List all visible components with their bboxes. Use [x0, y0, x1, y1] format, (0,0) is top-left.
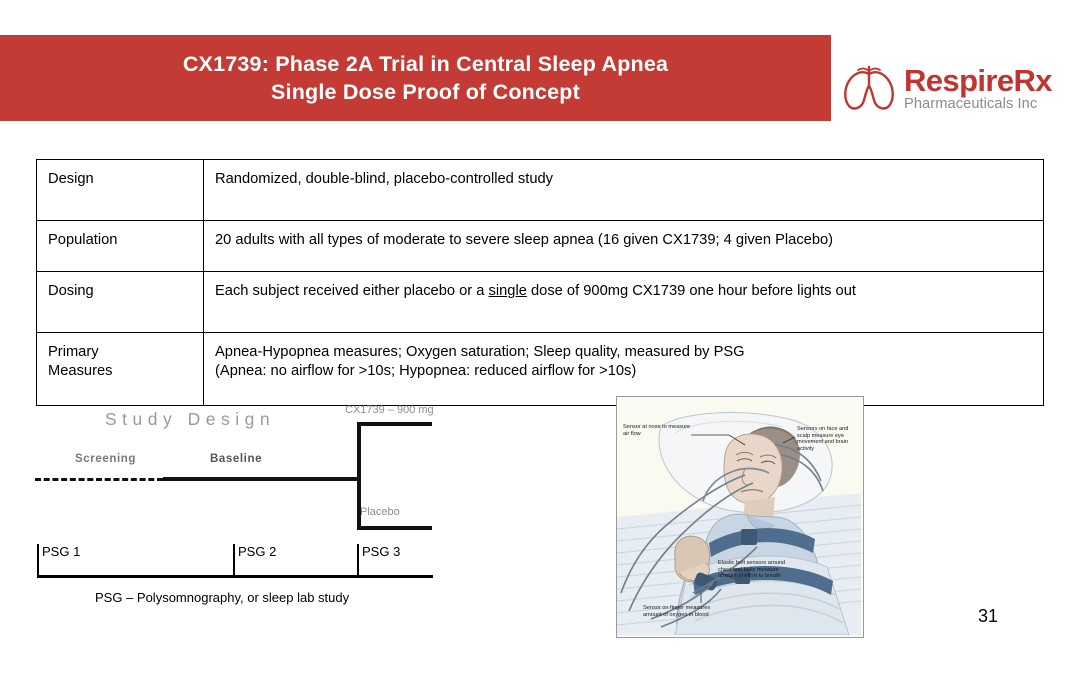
psg-label-1: PSG 1: [42, 544, 80, 559]
logo-company-name: RespireRx: [904, 65, 1052, 96]
header-banner: CX1739: Phase 2A Trial in Central Sleep …: [0, 35, 831, 121]
arm-label-placebo: Placebo: [360, 506, 400, 518]
company-logo: RespireRx Pharmaceuticals Inc: [838, 57, 1078, 119]
lungs-icon: [838, 62, 900, 114]
primary-label-line-1: Primary: [48, 344, 99, 360]
row-value-primary-measures: Apnea-Hypopnea measures; Oxygen saturati…: [204, 333, 1044, 406]
logo-tagline: Pharmaceuticals Inc: [904, 97, 1052, 112]
study-design-heading: Study Design: [105, 409, 275, 430]
dosing-text-underlined: single: [489, 283, 527, 299]
row-value-dosing: Each subject received either placebo or …: [204, 272, 1044, 333]
psg-label-2: PSG 2: [238, 544, 276, 559]
psg-timeline-axis: PSG 1 PSG 2 PSG 3: [37, 544, 433, 579]
psg-label-3: PSG 3: [362, 544, 400, 559]
psg-tick-2: [233, 544, 235, 578]
row-label-population: Population: [37, 221, 204, 272]
annotation-nose-sensor: Sensor at nose to measure air flow: [623, 424, 693, 437]
timeline-segment-screening: [35, 478, 163, 481]
table-row: Dosing Each subject received either plac…: [37, 272, 1044, 333]
primary-label-line-2: Measures: [48, 363, 113, 379]
table-row: Population 20 adults with all types of m…: [37, 221, 1044, 272]
primary-value-line-1: Apnea-Hypopnea measures; Oxygen saturati…: [215, 344, 745, 360]
psg-tick-3: [357, 544, 359, 578]
table-row: PrimaryMeasures Apnea-Hypopnea measures;…: [37, 333, 1044, 406]
title-line-2: Single Dose Proof of Concept: [183, 78, 668, 106]
arm-label-treatment: CX1739 – 900 mg: [345, 404, 434, 416]
row-label-design: Design: [37, 160, 204, 221]
timeline-arm-placebo: [357, 526, 432, 530]
primary-value-line-2: (Apnea: no airflow for >10s; Hypopnea: r…: [215, 363, 636, 379]
timeline-segment-baseline: [163, 477, 359, 481]
logo-text: RespireRx Pharmaceuticals Inc: [904, 65, 1052, 112]
phase-label-screening: Screening: [75, 453, 136, 465]
psg-tick-1: [37, 544, 39, 578]
annotation-elastic-belt: Elastic belt sensors around chest and be…: [718, 560, 790, 580]
row-value-design: Randomized, double-blind, placebo-contro…: [204, 160, 1044, 221]
table-row: Design Randomized, double-blind, placebo…: [37, 160, 1044, 221]
page-number: 31: [978, 606, 998, 627]
dosing-text-post: dose of 900mg CX1739 one hour before lig…: [527, 283, 856, 299]
annotation-finger-sensor: Sensor on finger measures amount of oxyg…: [643, 605, 721, 618]
phase-label-baseline: Baseline: [210, 453, 262, 465]
title-line-1: CX1739: Phase 2A Trial in Central Sleep …: [183, 52, 668, 76]
randomization-fork: [357, 422, 361, 530]
psg-footnote: PSG – Polysomnography, or sleep lab stud…: [95, 590, 349, 605]
psg-axis-line: [37, 575, 433, 578]
page-title: CX1739: Phase 2A Trial in Central Sleep …: [163, 50, 668, 106]
timeline-arm-treatment: [357, 422, 432, 426]
row-label-dosing: Dosing: [37, 272, 204, 333]
study-design-diagram: Study Design Screening Baseline CX1739 –…: [20, 398, 480, 613]
annotation-scalp-sensors: Sensors on face and scalp measure eye mo…: [797, 426, 855, 452]
row-value-population: 20 adults with all types of moderate to …: [204, 221, 1044, 272]
study-summary-table: Design Randomized, double-blind, placebo…: [36, 159, 1044, 406]
row-label-primary-measures: PrimaryMeasures: [37, 333, 204, 406]
polysomnography-illustration: Sensor at nose to measure air flow Senso…: [616, 396, 864, 638]
dosing-text-pre: Each subject received either placebo or …: [215, 283, 489, 299]
